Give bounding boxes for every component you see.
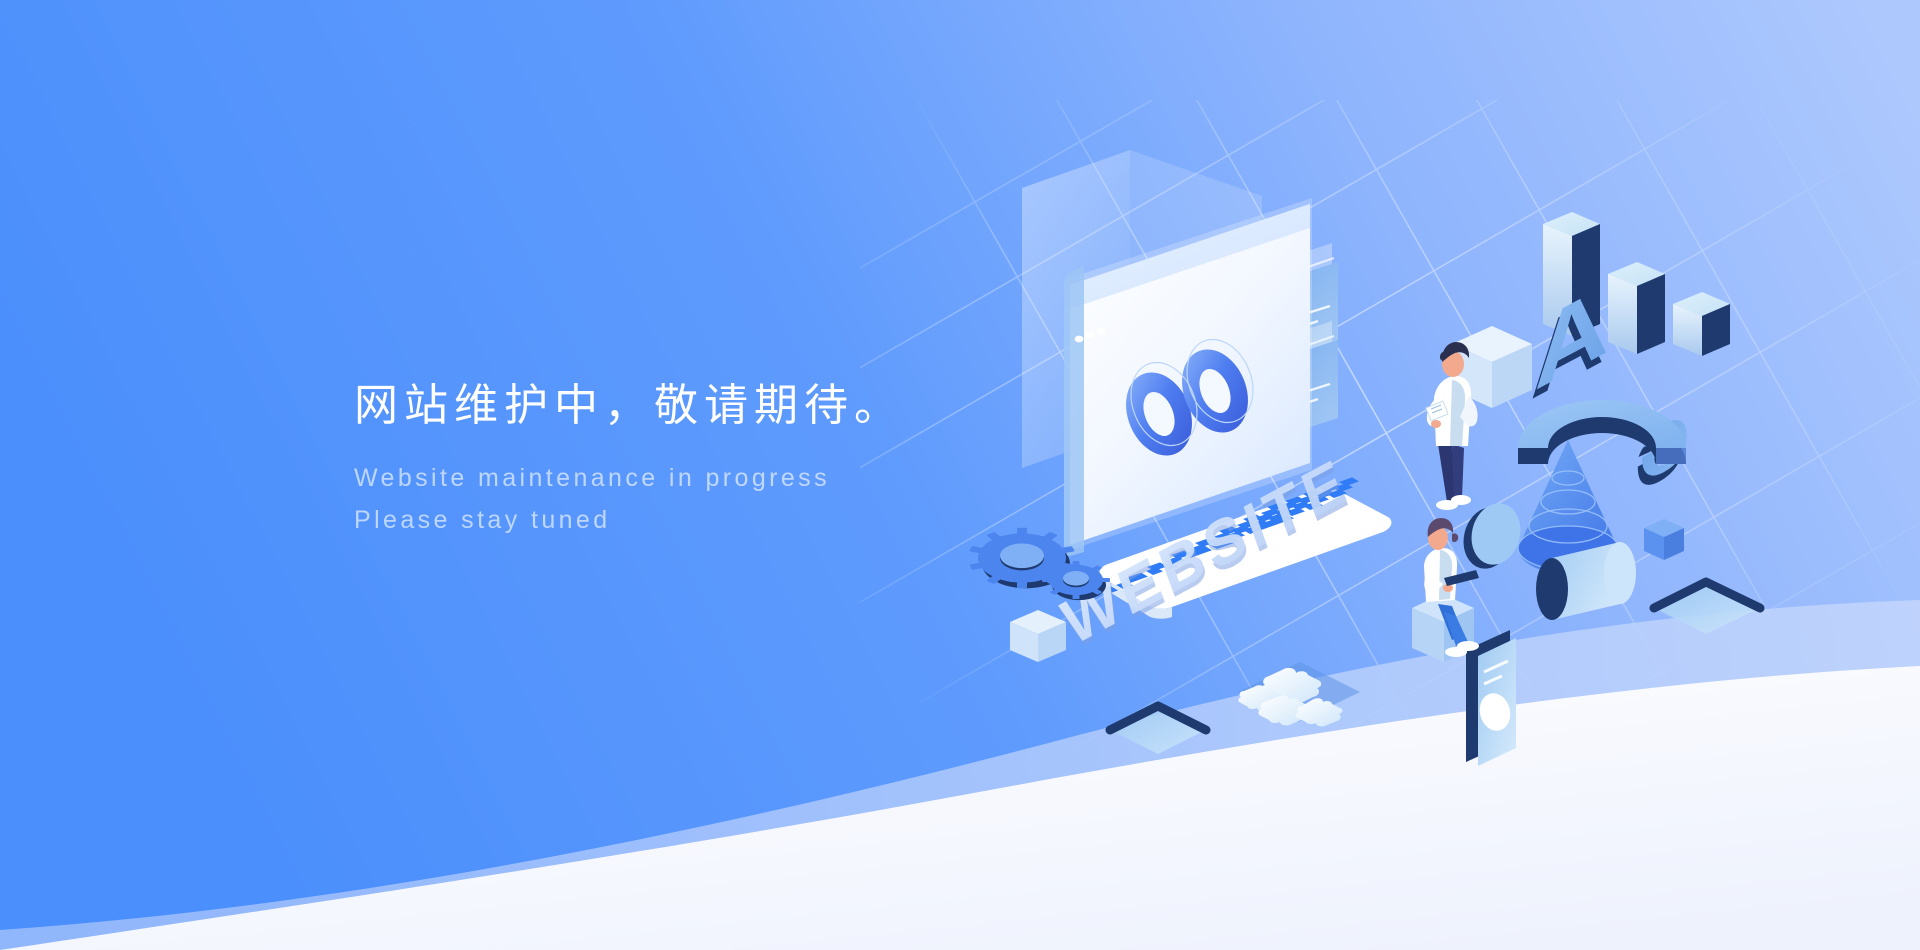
phone-card [1466,630,1516,766]
letter-a: A A [1530,263,1609,421]
chevron-right [1654,582,1760,634]
maintenance-message: 网站维护中，敬请期待。 Website maintenance in progr… [354,378,1054,541]
page-title: 网站维护中，敬请期待。 [354,378,1054,433]
cube-tiny [1644,519,1684,560]
puzzle-pieces [1238,662,1360,726]
gear-small [1042,561,1110,600]
maintenance-page: WEBSITE WEBSITE [0,0,1920,950]
cube-small-left [1010,610,1066,662]
ellipse-disc [1457,498,1527,574]
subtitle-line-1: Website maintenance in progress [354,457,1054,499]
chevron-left [1110,706,1206,754]
subtitle-line-2: Please stay tuned [354,499,1054,541]
